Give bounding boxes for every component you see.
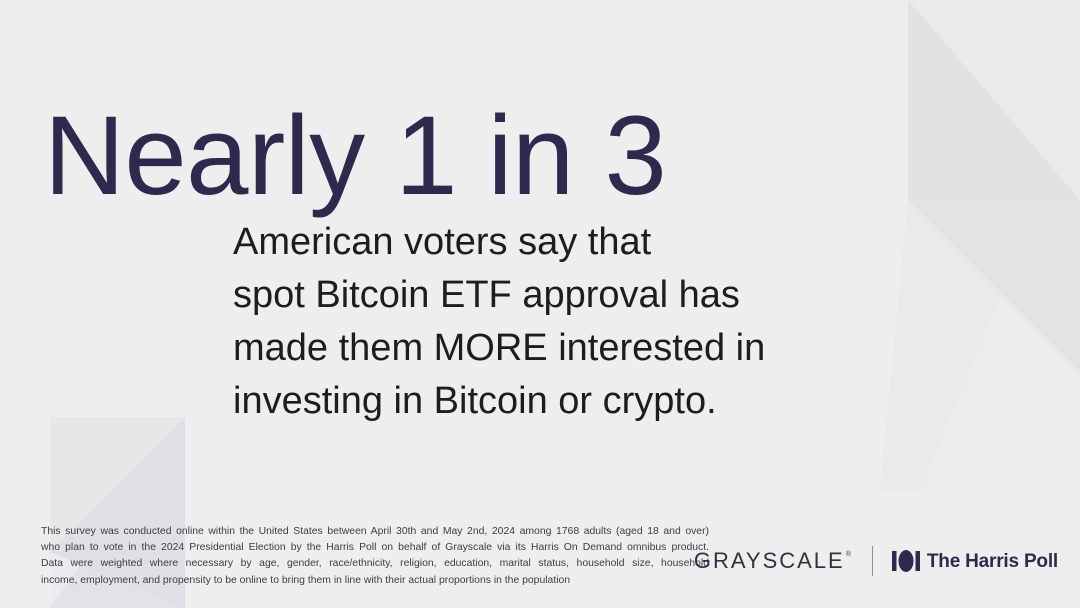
body-copy: American voters say that spot Bitcoin ET…: [233, 216, 933, 428]
body-line-2: spot Bitcoin ETF approval has: [233, 269, 933, 322]
grayscale-logo: GRAYSCALE ®: [694, 550, 853, 572]
shape-right-diamond-upper: [908, 200, 1080, 372]
shape-top-right-square: [908, 0, 1080, 200]
methodology-disclaimer: This survey was conducted online within …: [41, 524, 709, 589]
infographic-poster: Nearly 1 in 3 American voters say that s…: [0, 0, 1080, 608]
disclaimer-line-4: income, employment, and propensity to be…: [41, 573, 709, 589]
grayscale-wordmark: GRAYSCALE: [694, 550, 845, 572]
grayscale-trademark-icon: ®: [846, 551, 853, 558]
disclaimer-line-2: who plan to vote in the 2024 Presidentia…: [41, 540, 709, 556]
shape-top-right-triangle-light: [908, 0, 1080, 200]
harris-poll-wordmark: The Harris Poll: [927, 552, 1058, 571]
headline: Nearly 1 in 3: [44, 93, 666, 218]
harris-poll-logo: The Harris Poll: [892, 549, 1058, 573]
body-line-4: investing in Bitcoin or crypto.: [233, 375, 933, 428]
shape-right-diamond-accent: [920, 296, 1080, 490]
body-line-1: American voters say that: [233, 216, 933, 269]
logo-divider: [872, 546, 873, 576]
disclaimer-line-3: Data were weighted where necessary by ag…: [41, 556, 709, 572]
logo-lockup: GRAYSCALE ® The Harris Poll: [694, 545, 1058, 577]
body-line-3: made them MORE interested in: [233, 322, 933, 375]
disclaimer-line-1: This survey was conducted online within …: [41, 524, 709, 540]
harris-poll-mark-icon: [892, 549, 920, 573]
